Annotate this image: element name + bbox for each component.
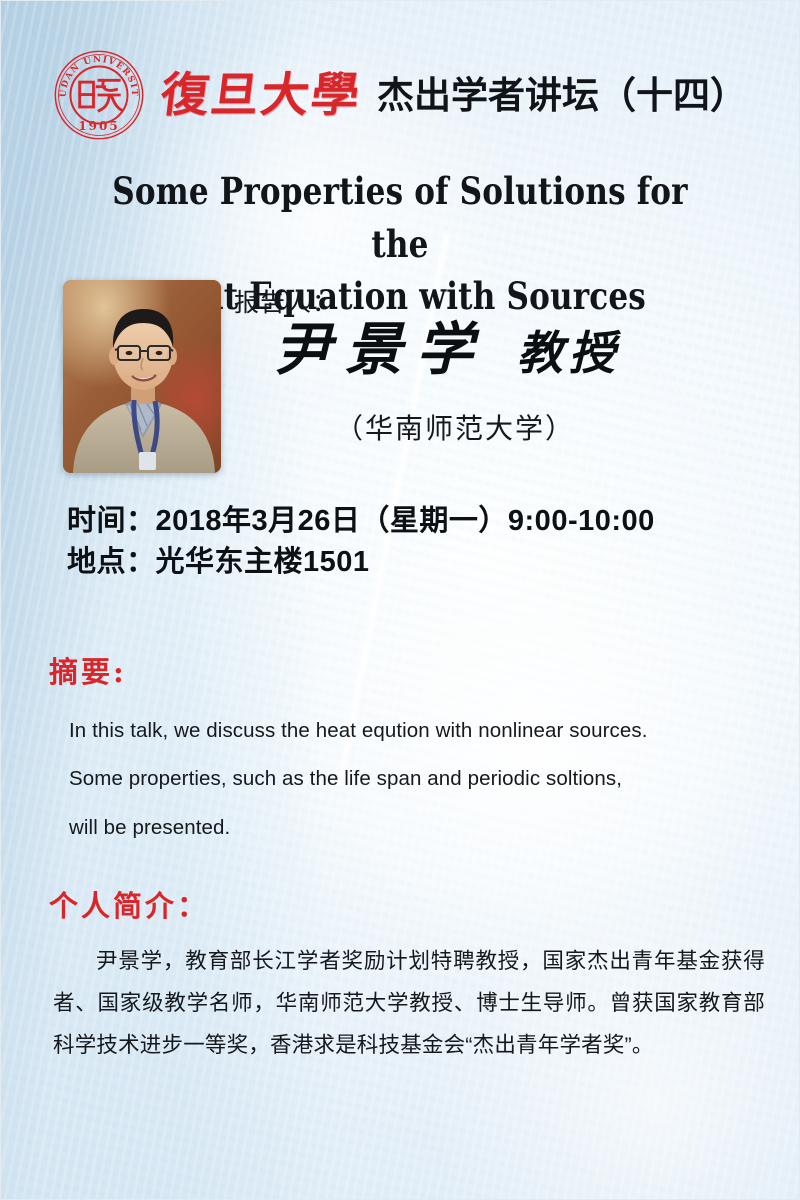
biography-heading: 个人简介： [49,883,209,925]
talk-title-line-1: Some Properties of Solutions for the [98,165,701,270]
abstract-text: In this talk, we discuss the heat equtio… [69,707,759,852]
abstract-line-2: Some properties, such as the life span a… [69,755,759,803]
abstract-line-1: In this talk, we discuss the heat equtio… [69,707,759,755]
speaker-academic-title: 教授 [517,326,621,380]
event-details: 时间：2018年3月26日（星期一）9:00-10:00 地点：光华东主楼150… [67,501,655,583]
seminar-poster: FUDAN UNIVERSITY 1905 復旦大學 杰出学者讲坛（十四） [0,0,800,1200]
fudan-university-seal-icon: FUDAN UNIVERSITY 1905 [53,49,145,141]
abstract-line-3: will be presented. [69,804,759,852]
speaker-affiliation: （华南师范大学） [1,407,799,447]
event-time: 时间：2018年3月26日（星期一）9:00-10:00 [67,501,655,542]
speaker-name: 尹景学 [274,316,487,383]
svg-text:1905: 1905 [78,119,119,133]
poster-header: FUDAN UNIVERSITY 1905 復旦大學 杰出学者讲坛（十四） [1,49,799,141]
forum-series-title: 杰出学者讲坛（十四） [377,77,747,114]
event-location: 地点：光华东主楼1501 [67,542,655,583]
speaker-name-row: 尹景学 教授 [1,319,799,382]
abstract-heading: 摘要: [49,649,127,691]
university-name: 復旦大學 [158,72,364,119]
biography-text: 尹景学，教育部长江学者奖励计划特聘教授，国家杰出青年基金获得者、国家级教学名师，… [53,941,765,1067]
speaker-label: 报告人： [234,283,338,319]
